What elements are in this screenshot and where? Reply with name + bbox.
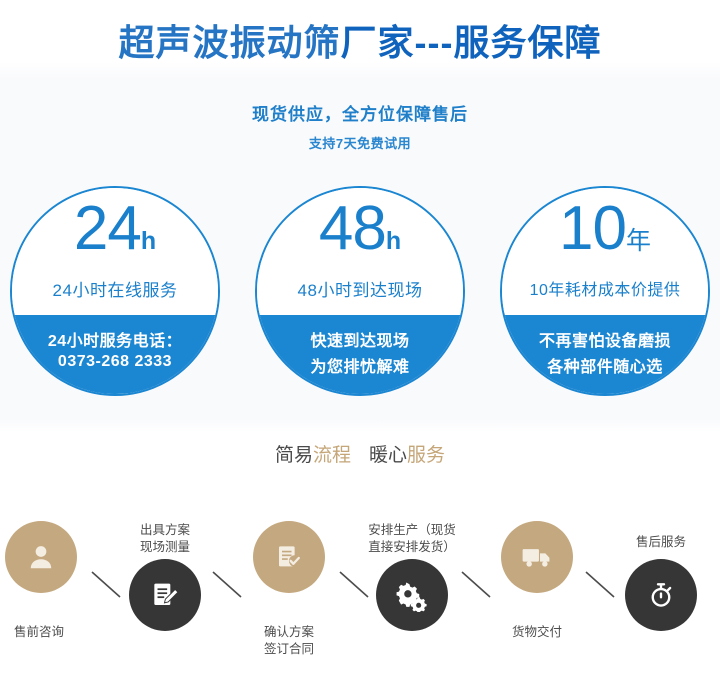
flow-step-5-label: 货物交付 bbox=[462, 624, 612, 641]
flow-step-4-label-line1: 安排生产（现货 bbox=[337, 522, 487, 539]
flow-connector-3 bbox=[338, 570, 372, 600]
flow-step-3-label-line2: 签订合同 bbox=[214, 641, 364, 658]
flow-step-6-label: 售后服务 bbox=[586, 534, 720, 551]
contract-check-icon bbox=[253, 521, 325, 593]
promo-banner: 超声波振动筛厂家---服务保障 现货供应，全方位保障售后 支持7天免费试用 24… bbox=[0, 0, 720, 689]
flow-connector-1 bbox=[90, 570, 124, 600]
flow-step-5-label-line1: 货物交付 bbox=[462, 624, 612, 641]
flow-step-4-circle bbox=[376, 559, 448, 631]
flow-step-3-label-line1: 确认方案 bbox=[214, 624, 364, 641]
flow-connector-2 bbox=[211, 570, 245, 600]
flow-connector-5 bbox=[584, 570, 618, 600]
flow-step-2-circle bbox=[129, 559, 201, 631]
flow-step-1-label-line1: 售前咨询 bbox=[0, 624, 114, 641]
flow-step-6-label-line1: 售后服务 bbox=[586, 534, 720, 551]
gears-icon bbox=[376, 559, 448, 631]
flow-step-5-circle bbox=[501, 521, 573, 593]
flow-step-1-label: 售前咨询 bbox=[0, 624, 114, 641]
flow-step-3-circle bbox=[253, 521, 325, 593]
flow-step-2-label-line2: 现场测量 bbox=[90, 539, 240, 556]
flow-step-4-label: 安排生产（现货 直接安排发货） bbox=[337, 522, 487, 556]
person-icon bbox=[5, 521, 77, 593]
stopwatch-icon bbox=[625, 559, 697, 631]
flow-step-3-label: 确认方案 签订合同 bbox=[214, 624, 364, 658]
flow-step-1-circle bbox=[5, 521, 77, 593]
flow-step-4-label-line2: 直接安排发货） bbox=[337, 539, 487, 556]
truck-icon bbox=[501, 521, 573, 593]
document-pen-icon bbox=[129, 559, 201, 631]
flow-connector-4 bbox=[460, 570, 494, 600]
flow-step-2-label-line1: 出具方案 bbox=[90, 522, 240, 539]
flow-step-2-label: 出具方案 现场测量 bbox=[90, 522, 240, 556]
process-flow: 售前咨询 出具方案 现场测量 bbox=[0, 0, 720, 689]
flow-step-6-circle bbox=[625, 559, 697, 631]
